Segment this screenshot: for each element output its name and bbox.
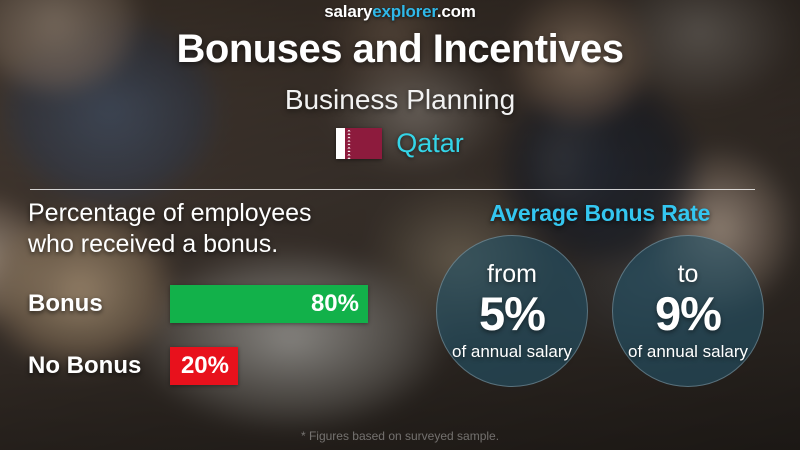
bonus-lead-text: Percentage of employees who received a b… <box>28 198 428 259</box>
bonus-bar-chart: Bonus 80% No Bonus 20% <box>28 285 428 385</box>
rate-circles: from 5% of annual salary to 9% of annual… <box>420 235 780 387</box>
average-bonus-rate-panel: Average Bonus Rate from 5% of annual sal… <box>420 200 780 387</box>
flag-serrated-edge <box>345 128 353 159</box>
logo-text-dotcom: .com <box>437 2 476 21</box>
rate-to-value: 9% <box>655 289 721 338</box>
footnote: * Figures based on surveyed sample. <box>0 429 800 443</box>
rate-to-subtext: of annual salary <box>628 343 748 360</box>
page-title: Bonuses and Incentives <box>0 27 800 72</box>
site-logo[interactable]: salaryexplorer.com <box>0 2 800 22</box>
logo-text-salary: salary <box>324 2 372 21</box>
rate-from-value: 5% <box>479 289 545 338</box>
country-name: Qatar <box>396 128 464 159</box>
bar-bonus: 80% <box>170 285 368 323</box>
bar-row-bonus: Bonus 80% <box>28 285 428 323</box>
rate-circle-from: from 5% of annual salary <box>436 235 588 387</box>
qatar-flag-icon <box>336 128 382 159</box>
rate-from-subtext: of annual salary <box>452 343 572 360</box>
bar-row-no-bonus: No Bonus 20% <box>28 347 428 385</box>
country-row: Qatar <box>0 128 800 159</box>
content-layer: salaryexplorer.com Bonuses and Incentive… <box>0 0 800 450</box>
average-bonus-rate-title: Average Bonus Rate <box>420 200 780 227</box>
bonus-lead-line-1: Percentage of employees <box>28 198 428 229</box>
rate-circle-to: to 9% of annual salary <box>612 235 764 387</box>
bar-no-bonus: 20% <box>170 347 238 385</box>
bar-label-no-bonus: No Bonus <box>28 352 170 380</box>
rate-from-prefix: from <box>487 262 537 287</box>
page-subtitle: Business Planning <box>0 84 800 116</box>
logo-text-explorer: explorer <box>372 2 437 21</box>
bonus-lead-line-2: who received a bonus. <box>28 229 428 260</box>
bar-label-bonus: Bonus <box>28 290 170 318</box>
header-divider <box>30 189 755 190</box>
infographic-root: salaryexplorer.com Bonuses and Incentive… <box>0 0 800 450</box>
rate-to-prefix: to <box>678 262 699 287</box>
bonus-percentage-panel: Percentage of employees who received a b… <box>28 198 428 385</box>
